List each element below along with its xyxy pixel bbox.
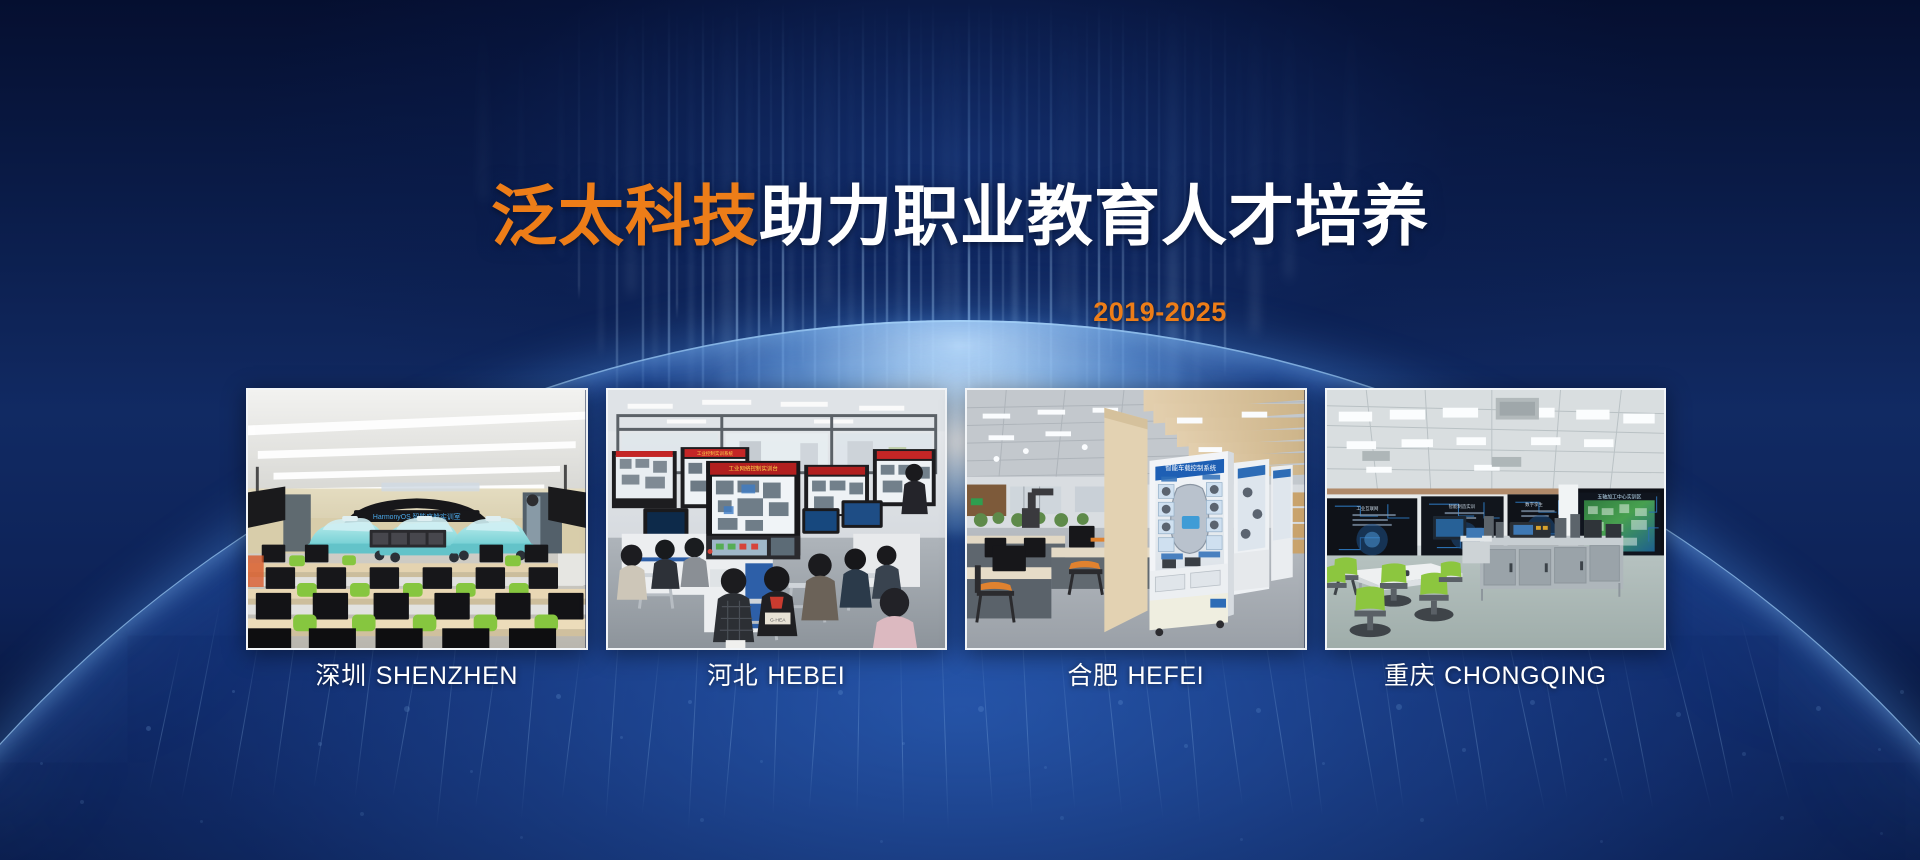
particle-dot [232,690,235,693]
photo-frame: 工业互联网 智能制造实训 数字孪生 [1325,388,1667,650]
particle-dot [360,812,364,816]
svg-text:五轴加工中心实训区: 五轴加工中心实训区 [1597,493,1641,500]
particle-dot [1240,838,1243,841]
photo-caption: 河北HEBEI [606,656,948,692]
page-title-brand: 泛太科技 [491,179,759,253]
light-ray [149,645,181,792]
svg-text:G·HEA: G·HEA [769,617,785,623]
photo-caption-en: HEBEI [767,662,845,690]
particle-dot [520,836,523,839]
light-streak [1210,0,1212,300]
particle-dot [1044,766,1047,769]
particle-dot [1060,816,1064,820]
svg-text:智能制造实训: 智能制造实训 [1448,503,1475,510]
photo-caption-en: HEFEI [1128,662,1205,690]
page-subtitle-years: 2019-2025 [0,297,1920,328]
page-title-rest: 助力职业教育人才培养 [759,179,1429,253]
photo-caption: 重庆CHONGQING [1325,656,1667,692]
light-streak [628,0,634,300]
particle-dot [1118,700,1123,705]
svg-text:工业互联网: 工业互联网 [1356,505,1379,512]
particle-dot [1600,840,1603,843]
particle-dot [200,820,203,823]
light-streak [1252,0,1258,340]
particle-dot [1530,700,1535,705]
photo-frame: 智能车载控制系统 [965,388,1307,650]
photo-caption-cn: 深圳 [315,662,366,690]
particle-dot [1396,704,1402,710]
particle-dot [1462,748,1466,752]
photo-caption-cn: 合肥 [1067,662,1118,690]
particle-dot [1816,706,1821,711]
particle-dot [1676,712,1681,717]
light-streak [578,0,580,300]
svg-text:数字孪生: 数字孪生 [1525,501,1543,508]
particle-dot [978,706,984,712]
hebei-electrical-training-workstations: 工业控制实训系统 [608,390,946,648]
light-ray [1700,645,1734,802]
particle-dot [620,736,623,739]
photo-caption: 合肥HEFEI [965,656,1307,692]
particle-dot [556,694,561,699]
shenzhen-harmonyos-smart-vehicle-classroom: HarmonyOS 智能座舱实训室 [248,390,586,648]
particle-dot [1780,816,1784,820]
particle-dot [1322,762,1325,765]
particle-dot [1184,744,1188,748]
photo-frame: HarmonyOS 智能座舱实训室 [246,388,588,650]
svg-text:工业网络控制实训台: 工业网络控制实训台 [728,465,778,473]
particle-dot [470,770,473,773]
svg-text:工业控制实训系统: 工业控制实训系统 [696,450,733,457]
photo-caption-cn: 河北 [707,662,758,690]
banner: 泛太科技助力职业教育人才培养 2019-2025 [0,0,1920,860]
light-ray [1660,605,1712,809]
particle-dot [880,840,883,843]
photo-caption-cn: 重庆 [1384,662,1435,690]
gallery-card[interactable]: 工业控制实训系统 [606,388,948,650]
particle-dot [80,800,84,804]
photo-caption-en: SHENZHEN [376,662,518,690]
photo-caption: 深圳SHENZHEN [246,656,588,692]
particle-dot [1880,832,1883,835]
particle-dot [1256,708,1261,713]
particle-dot [700,818,704,822]
particle-dot [1742,752,1746,756]
light-streak [874,0,876,345]
particle-dot [1900,690,1904,694]
light-ray [181,600,221,801]
photo-frame: 工业控制实训系统 [606,388,948,650]
chongqing-smart-manufacturing-lab: 工业互联网 智能制造实训 数字孪生 [1327,390,1665,648]
photo-caption-en: CHONGQING [1444,662,1606,690]
light-ray [1740,618,1790,802]
particle-dot [688,700,692,704]
gallery-card[interactable]: HarmonyOS 智能座舱实训室 [246,388,588,650]
light-streak [1062,0,1068,320]
svg-text:智能车载控制系统: 智能车载控制系统 [1165,463,1217,472]
light-streak [770,0,772,330]
light-streak [480,0,486,205]
light-streak [1134,0,1136,335]
particle-dot [40,762,43,765]
light-streak [944,0,950,330]
particle-dot [760,760,763,763]
particle-dot [146,726,151,731]
gallery-card[interactable]: 工业互联网 智能制造实训 数字孪生 [1325,388,1667,650]
page-title: 泛太科技助力职业教育人才培养 [0,183,1920,250]
particle-dot [1878,748,1881,751]
light-streak [676,0,678,320]
gallery-card[interactable]: 智能车载控制系统 [965,388,1307,650]
particle-dot [1604,758,1607,761]
hefei-smart-vehicle-control-system-lab: 智能车载控制系统 [967,390,1305,648]
particle-dot [1420,818,1424,822]
light-streak [824,0,830,310]
photo-gallery: HarmonyOS 智能座舱实训室 [246,388,1666,650]
